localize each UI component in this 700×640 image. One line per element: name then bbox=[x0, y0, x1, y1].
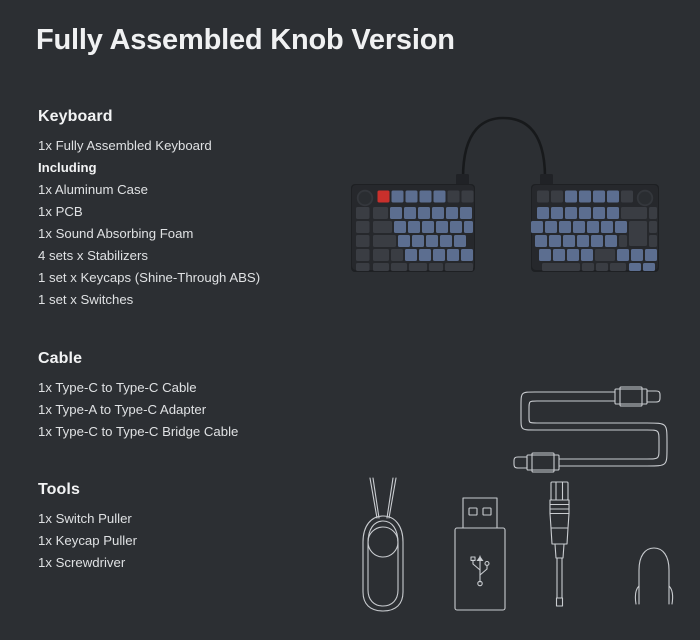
tools-illustration-group bbox=[345, 470, 690, 640]
section-keyboard: Keyboard 1x Fully Assembled Keyboard Inc… bbox=[38, 108, 260, 311]
usb-a-to-c-adapter-icon bbox=[455, 498, 505, 610]
item-list-tools: 1x Switch Puller 1x Keycap Puller 1x Scr… bbox=[38, 508, 137, 574]
page-title: Fully Assembled Knob Version bbox=[36, 24, 455, 57]
section-heading-keyboard: Keyboard bbox=[38, 108, 260, 126]
section-cable: Cable 1x Type-C to Type-C Cable 1x Type-… bbox=[38, 350, 238, 443]
section-heading-tools: Tools bbox=[38, 481, 137, 499]
list-item: 1 set x Keycaps (Shine-Through ABS) bbox=[38, 267, 260, 289]
list-item: 1x Type-C to Type-C Cable bbox=[38, 377, 238, 399]
section-heading-cable: Cable bbox=[38, 350, 238, 368]
list-item: 1x Fully Assembled Keyboard bbox=[38, 135, 260, 157]
list-item: 1x Aluminum Case bbox=[38, 179, 260, 201]
list-item: 1x Keycap Puller bbox=[38, 530, 137, 552]
list-item: 1x Type-C to Type-C Bridge Cable bbox=[38, 421, 238, 443]
list-item: 1x Screwdriver bbox=[38, 552, 137, 574]
split-keyboard-illustration bbox=[335, 108, 675, 288]
item-list-cable: 1x Type-C to Type-C Cable 1x Type-A to T… bbox=[38, 377, 238, 443]
list-item: 1 set x Switches bbox=[38, 289, 260, 311]
switch-puller-icon bbox=[363, 478, 403, 611]
list-item: Including bbox=[38, 157, 260, 179]
list-item: 1x Switch Puller bbox=[38, 508, 137, 530]
list-item: 1x PCB bbox=[38, 201, 260, 223]
list-item: 1x Type-A to Type-C Adapter bbox=[38, 399, 238, 421]
keycap-puller-icon bbox=[635, 548, 672, 604]
list-item: 1x Sound Absorbing Foam bbox=[38, 223, 260, 245]
usb-c-cable-illustration bbox=[495, 360, 685, 480]
screwdriver-icon bbox=[550, 482, 569, 606]
section-tools: Tools 1x Switch Puller 1x Keycap Puller … bbox=[38, 481, 137, 574]
item-list-keyboard: 1x Fully Assembled Keyboard Including 1x… bbox=[38, 135, 260, 311]
list-item: 4 sets x Stabilizers bbox=[38, 245, 260, 267]
